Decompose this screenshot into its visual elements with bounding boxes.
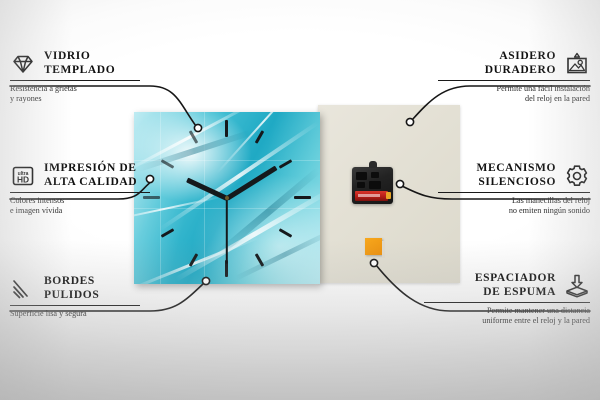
feature-vidrio-templado: VIDRIO TEMPLADO Resistencia a grietas y … [10,50,140,104]
feature-desc-line2: y rayones [10,94,140,104]
feature-title-line1: IMPRESIÓN DE [44,162,137,176]
feature-title-line2: DURADERO [485,64,556,78]
diamond-icon [10,51,36,77]
feature-desc-line1: Superficie lisa y segura [10,309,140,319]
feature-asidero-duradero: ASIDERO DURADERO Permite una fácil insta… [438,50,590,104]
divider [438,80,590,81]
feature-title-line2: DE ESPUMA [475,286,556,300]
feature-title-line2: PULIDOS [44,289,99,303]
clock-hands-hub [225,196,229,200]
battery [355,191,388,201]
feature-mecanismo-silencioso: MECANISMO SILENCIOSO Las manecillas del … [438,162,590,216]
feature-desc-line2: del reloj en la pared [438,94,590,104]
divider [10,192,150,193]
ultra-hd-icon: ultra HD [10,163,36,189]
polished-edges-icon [10,276,36,302]
mechanism-shaft [369,161,377,168]
feature-desc-line2: no emiten ningún sonido [438,206,590,216]
wall-clock-product [134,112,320,284]
feature-title-line1: VIDRIO [44,50,115,64]
feature-desc-line1: Permite mantener una distancia [424,306,590,316]
feature-title-line2: ALTA CALIDAD [44,176,137,190]
foam-spacer [365,238,382,255]
svg-text:HD: HD [17,174,29,184]
feature-title-line2: TEMPLADO [44,64,115,78]
second-hand [226,198,228,264]
feature-desc-line1: Las manecillas del reloj [438,196,590,206]
feature-desc-line2: e imagen vívida [10,206,150,216]
hour-marker [225,120,228,137]
foam-spacer-icon [564,273,590,299]
feature-title-line2: SILENCIOSO [476,176,556,190]
divider [424,302,590,303]
feature-bordes-pulidos: BORDES PULIDOS Superficie lisa y segura [10,275,140,319]
clock-mechanism [352,167,393,204]
wall-hanger-icon [564,51,590,77]
feature-desc-line1: Permite una fácil instalación [438,84,590,94]
divider [438,192,590,193]
divider [10,305,140,306]
feature-title-line1: ASIDERO [485,50,556,64]
feature-title-line1: MECANISMO [476,162,556,176]
feature-desc-line1: Resistencia a grietas [10,84,140,94]
hour-marker [294,196,311,199]
feature-espaciador-de-espuma: ESPACIADOR DE ESPUMA Permite mantener un… [424,272,590,326]
gear-icon [564,163,590,189]
infographic-canvas: VIDRIO TEMPLADO Resistencia a grietas y … [0,0,600,400]
divider [10,80,140,81]
feature-desc-line1: Colores intensos [10,196,150,206]
feature-desc-line2: uniforme entre el reloj y la pared [424,316,590,326]
feature-title-line1: ESPACIADOR [475,272,556,286]
feature-title-line1: BORDES [44,275,99,289]
feature-impresion-alta-calidad: ultra HD IMPRESIÓN DE ALTA CALIDAD Color… [10,162,150,216]
